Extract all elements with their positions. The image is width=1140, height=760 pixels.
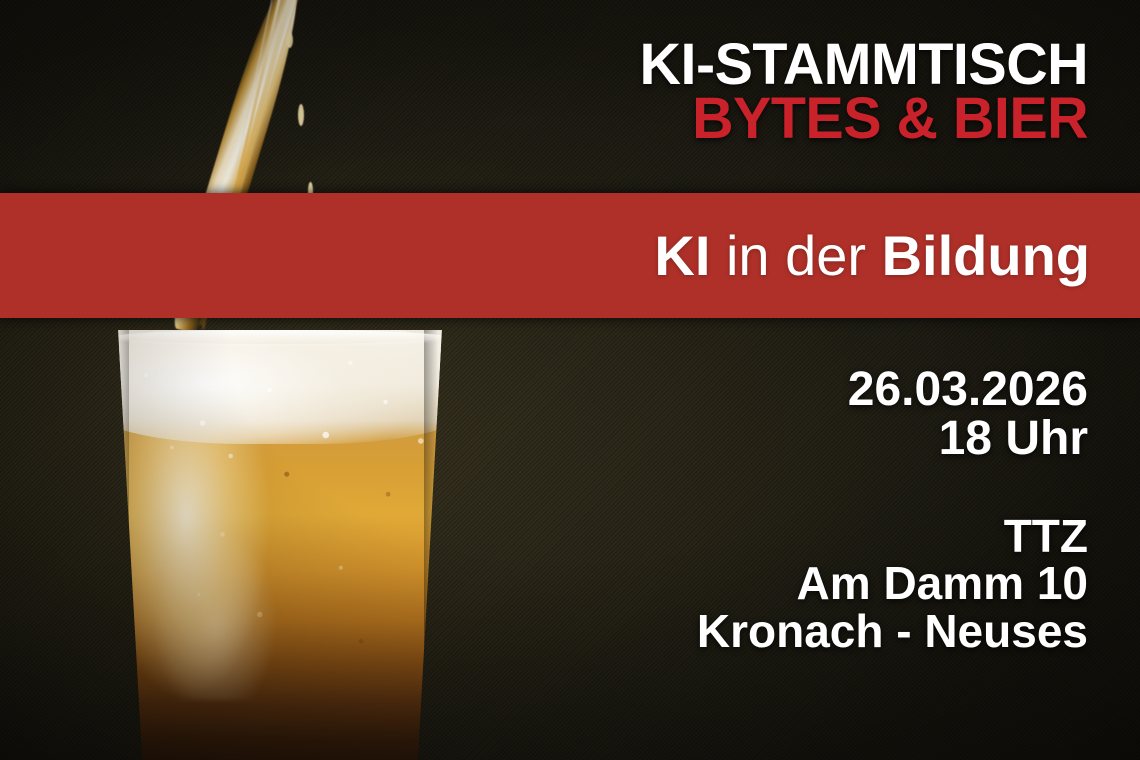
title-line-primary: KI-STAMMTISCH — [639, 38, 1088, 92]
topic-banner: KI in der Bildung — [0, 193, 1140, 318]
venue-name: TTZ — [697, 513, 1088, 560]
event-poster: KI-STAMMTISCH BYTES & BIER KI in der Bil… — [0, 0, 1140, 760]
event-venue: TTZ Am Damm 10 Kronach - Neuses — [697, 513, 1088, 655]
venue-city: Kronach - Neuses — [697, 608, 1088, 655]
topic-word-bildung: Bildung — [882, 224, 1090, 287]
topic-banner-text: KI in der Bildung — [654, 228, 1140, 284]
event-time: 18 Uhr — [848, 415, 1088, 464]
topic-word-ki: KI — [654, 224, 710, 287]
venue-street: Am Damm 10 — [697, 560, 1088, 607]
title-line-secondary: BYTES & BIER — [639, 92, 1088, 146]
topic-word-connector: in der — [710, 224, 881, 287]
poster-title: KI-STAMMTISCH BYTES & BIER — [635, 38, 1088, 146]
event-date: 26.03.2026 — [848, 366, 1088, 415]
event-datetime: 26.03.2026 18 Uhr — [848, 366, 1088, 464]
